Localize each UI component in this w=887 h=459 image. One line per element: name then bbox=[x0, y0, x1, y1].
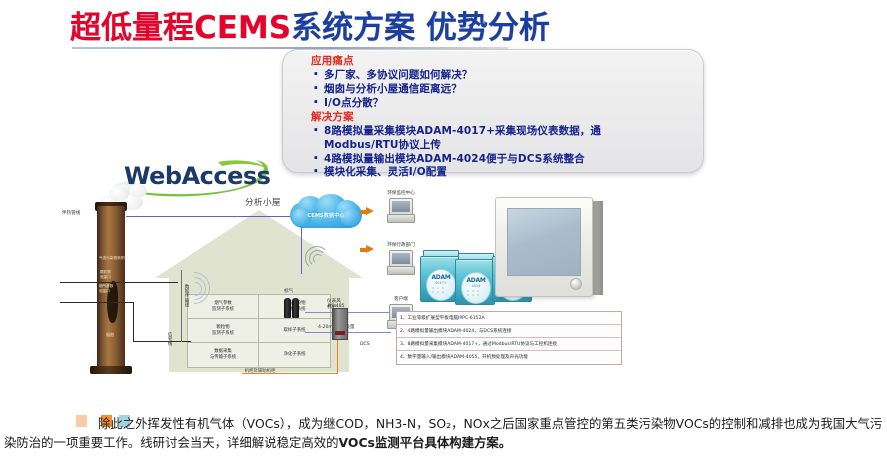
stack-label-gas-port: 气态污染物采样口 bbox=[99, 256, 128, 261]
adam-module: ADAM 4017+ bbox=[420, 250, 460, 302]
adam-brand-label: ADAM bbox=[427, 274, 455, 281]
wire-420ma bbox=[305, 332, 391, 333]
caption-line-2-bold: VOCs监测平台具体构建方案。 bbox=[339, 435, 512, 450]
list-item-continued: Modbus/RTU协议上传 bbox=[311, 139, 693, 152]
list-item: 模块化采集、灵活I/O配置 bbox=[311, 166, 693, 179]
cabinet-indicator bbox=[335, 331, 345, 335]
wire-dark-vert bbox=[133, 302, 134, 342]
pc-node-label: 环保监控中心 bbox=[380, 190, 422, 196]
subsystem-cell: 取样子系统 bbox=[259, 319, 330, 343]
adam-housing: ADAM 4017+ bbox=[420, 256, 460, 302]
wire-orange-horz bbox=[242, 373, 338, 374]
solution-heading: 解决方案 bbox=[311, 111, 693, 124]
signal-waves-icon bbox=[178, 272, 218, 312]
pc-base bbox=[387, 214, 415, 223]
spec-table: 1、工业等级扩展型平板电脑IPPC-6152A 2、4路模拟量输出模块ADAM-… bbox=[396, 311, 622, 365]
pc-node-label: 环保行政部门 bbox=[380, 242, 422, 248]
gas-bottle-icon bbox=[292, 298, 299, 318]
chimney-base bbox=[90, 366, 132, 374]
list-item: 多厂家、多协议问题如何解决？ bbox=[311, 69, 693, 82]
label-heat-trace: 伴热管线 bbox=[62, 210, 80, 216]
cloud-label: CEMS数据中心 bbox=[290, 212, 362, 219]
adam-brand-label: ADAM bbox=[462, 277, 490, 284]
label-signal-line: 信号线 bbox=[166, 332, 172, 346]
chimney-stack: 气态污染物采样口 颗粒物 测量口 烟气参数 测量口 烟囱 bbox=[95, 198, 129, 376]
label-standard-gas: 标气 bbox=[284, 288, 293, 294]
wire-dark-mid bbox=[60, 282, 178, 283]
pc-node: 环保行政部门 bbox=[386, 250, 416, 276]
adam-model-label: 4024 bbox=[462, 284, 490, 288]
title-blue-part: 系统方案 优势分析 bbox=[291, 10, 550, 46]
adam-housing: ADAM 4024 bbox=[455, 259, 495, 305]
adam-status-leds bbox=[467, 290, 485, 298]
stack-label-flue-params: 烟气参数 测量口 bbox=[99, 284, 113, 294]
table-row: 3、8路模拟量采集模块ADAM-4017+，通过Modbus\RTU协议与工控机… bbox=[397, 338, 621, 351]
caption-line-2-plain: 治的一项重要工作。线研讨会当天，详细解说稳定高效的 bbox=[29, 435, 339, 450]
panel-pc-bezel bbox=[495, 197, 593, 297]
subsystem-cell: 颗粒物 监测子系统 bbox=[188, 319, 259, 343]
info-card: 应用痛点 多厂家、多协议问题如何解决？ 烟囱与分析小屋通信距离远？ I/O点分散… bbox=[282, 49, 704, 173]
instrument-cabinet bbox=[332, 308, 348, 340]
stack-label-particulate: 颗粒物 测量口 bbox=[100, 270, 111, 280]
wire-rs485 bbox=[305, 312, 391, 313]
pain-points-heading: 应用痛点 bbox=[311, 55, 693, 68]
adam-model-label: 4017+ bbox=[427, 281, 455, 285]
list-item: 烟囱与分析小屋通信距离远？ bbox=[311, 83, 693, 96]
gas-bottle-icon bbox=[284, 298, 291, 318]
adam-faceplate: ADAM 4024 bbox=[461, 272, 491, 304]
caption-text: 除此之外挥发性有机气体（VOCs），成为继COD，NH3-N，SO₂，NOx之后… bbox=[4, 414, 883, 452]
table-row: 2、4路模拟量输出模块ADAM-4024，与DCS系统连接 bbox=[397, 325, 621, 338]
cloud-network-icon: CEMS数据中心 bbox=[290, 194, 362, 234]
list-item: 4路模拟量输出模块ADAM-4024便于与DCS系统整合 bbox=[311, 153, 693, 166]
panel-pc-screen bbox=[507, 208, 581, 276]
subsystem-cell: 数据采集 与传输子系统 bbox=[188, 343, 259, 367]
wire-dark-bottom bbox=[133, 341, 191, 342]
title-red-part: 超低量程CEMS bbox=[70, 10, 291, 46]
wire-dark-low bbox=[60, 302, 134, 303]
slide-root: 超低量程CEMS系统方案 优势分析 应用痛点 多厂家、多协议问题如何解决？ 烟囱… bbox=[0, 0, 887, 459]
caption-block: 除此之外挥发性有机气体（VOCs），成为继COD，NH3-N，SO₂，NOx之后… bbox=[0, 410, 887, 459]
adam-faceplate: ADAM 4017+ bbox=[426, 269, 456, 301]
pain-points-list: 多厂家、多协议问题如何解决？ 烟囱与分析小屋通信距离远？ I/O点分散？ bbox=[311, 69, 693, 110]
table-row: 1、工业等级扩展型平板电脑IPPC-6152A bbox=[397, 312, 621, 325]
list-item: 8路模拟量采集模块ADAM-4017+采集现场仪表数据，通 bbox=[311, 125, 693, 138]
wireless-antenna-icon bbox=[305, 246, 331, 276]
page-title: 超低量程CEMS系统方案 优势分析 bbox=[70, 8, 590, 50]
label-dcs: DCS bbox=[360, 342, 370, 347]
adam-status-leds bbox=[432, 287, 450, 295]
table-row: 4、数字量输入/输出模块ADAM-4055，开机预处理及声光功能 bbox=[397, 351, 621, 364]
subsystem-cell: 净化子系统 bbox=[259, 343, 330, 367]
pc-node: 环保监控中心 bbox=[386, 198, 416, 224]
stack-label-chimney: 烟囱 bbox=[106, 332, 114, 338]
wire-purple-top bbox=[126, 216, 302, 217]
panel-pc-power-button[interactable] bbox=[570, 278, 582, 290]
panel-pc bbox=[495, 197, 605, 301]
adam-module: ADAM 4024 bbox=[455, 253, 495, 305]
pc-base bbox=[387, 266, 415, 275]
pc-node-label: 客户端 bbox=[380, 296, 422, 302]
list-item: I/O点分散？ bbox=[311, 97, 693, 110]
solutions-list: 8路模拟量采集模块ADAM-4017+采集现场仪表数据，通 Modbus/RTU… bbox=[311, 125, 693, 180]
wire-orange-vert bbox=[337, 338, 338, 374]
